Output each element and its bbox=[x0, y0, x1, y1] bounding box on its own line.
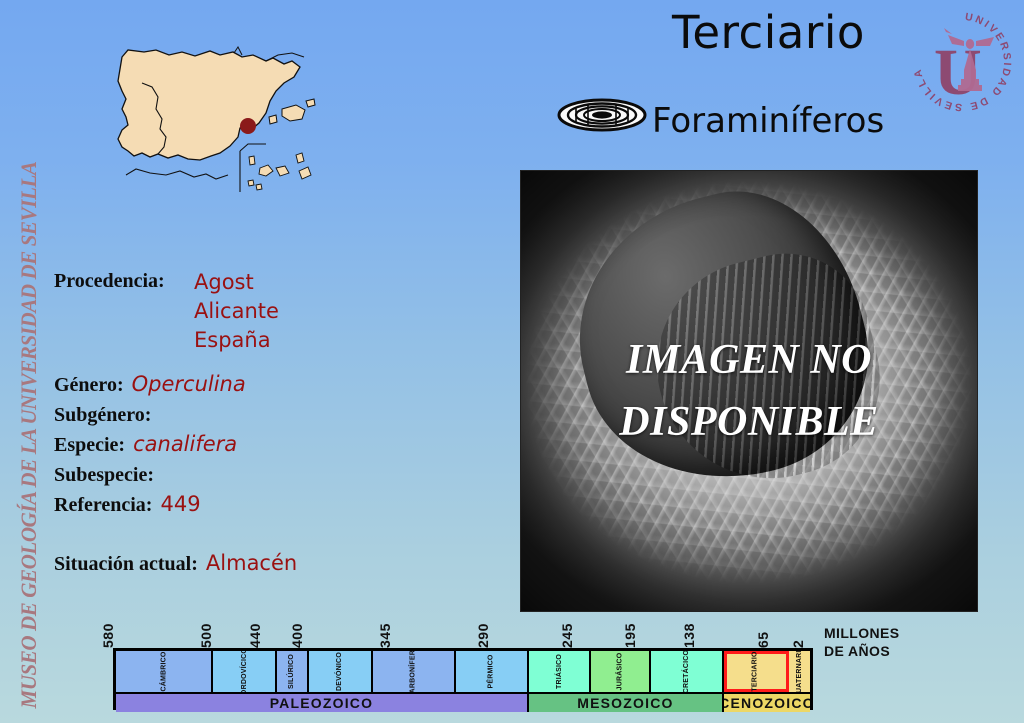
tick-label-65: 65 bbox=[755, 631, 771, 648]
field-referencia: Referencia:449 bbox=[54, 492, 201, 517]
tick-label-138: 138 bbox=[681, 623, 697, 648]
timescale-period-cámbrico: CÁMBRICO bbox=[116, 651, 213, 692]
timescale-eras-row: PALEOZOICOMESOZOICOCENOZOICO bbox=[116, 692, 810, 712]
canary-islands bbox=[248, 153, 311, 190]
period-label: JURÁSICO bbox=[617, 653, 624, 691]
tick-label-195: 195 bbox=[622, 623, 638, 648]
period-label: CÁMBRICO bbox=[160, 651, 167, 691]
referencia-label: Referencia: bbox=[54, 494, 152, 516]
timescale-era-cenozoico: CENOZOICO bbox=[724, 694, 810, 712]
timescale-tick-labels: 580500440400345290245195138652 bbox=[113, 618, 819, 648]
especie-value: canalifera bbox=[125, 432, 237, 456]
field-especie: Especie:canalifera bbox=[54, 432, 237, 457]
timescale-period-jurásico: JURÁSICO bbox=[591, 651, 651, 692]
timescale-period-triásico: TRIÁSICO bbox=[529, 651, 591, 692]
mallorca-island bbox=[282, 105, 305, 121]
foraminifera-icon bbox=[556, 92, 648, 138]
museum-banner-label: MUSEO DE GEOLOGÍA DE LA UNIVERSIDAD DE S… bbox=[15, 162, 42, 715]
subgenero-value bbox=[151, 402, 159, 426]
iberia-landmass bbox=[118, 50, 300, 160]
period-label: TERCIARIO bbox=[752, 651, 759, 691]
field-subgenero: Subgénero: bbox=[54, 402, 159, 427]
procedencia-value-city: Agost bbox=[194, 270, 254, 294]
timescale-periods-row: CÁMBRICOORDOVÍCICOSILÚRICODEVÓNICOCARBON… bbox=[116, 651, 810, 692]
period-label: PÉRMICO bbox=[488, 654, 495, 688]
tick-label-440: 440 bbox=[247, 623, 263, 648]
era-label: MESOZOICO bbox=[577, 695, 673, 711]
museum-banner: MUSEO DE GEOLOGÍA DE LA UNIVERSIDAD DE S… bbox=[9, 0, 49, 715]
units-line-2: DE AÑOS bbox=[824, 643, 900, 661]
genero-value: Operculina bbox=[124, 372, 246, 396]
situacion-value: Almacén bbox=[198, 551, 297, 575]
procedencia-value-province: Alicante bbox=[194, 299, 279, 323]
procedencia-label: Procedencia: bbox=[54, 270, 165, 292]
tick-label-500: 500 bbox=[198, 623, 214, 648]
units-line-1: MILLONES bbox=[824, 625, 900, 643]
field-subespecie: Subespecie: bbox=[54, 462, 162, 487]
era-label: PALEOZOICO bbox=[270, 695, 374, 711]
timescale-units-label: MILLONES DE AÑOS bbox=[824, 625, 900, 660]
timescale-period-silúrico: SILÚRICO bbox=[277, 651, 309, 692]
subespecie-value bbox=[154, 462, 162, 486]
timescale-period-pérmico: PÉRMICO bbox=[456, 651, 529, 692]
timescale-era-mesozoico: MESOZOICO bbox=[529, 694, 724, 712]
ibiza-island bbox=[269, 115, 277, 124]
menorca-island bbox=[306, 99, 315, 107]
overlay-line-1: IMAGEN NO bbox=[521, 329, 977, 391]
procedencia-value-country: España bbox=[194, 328, 271, 352]
timescale-period-carbonífero: CARBONÍFERO bbox=[373, 651, 456, 692]
timescale-period-terciario: TERCIARIO bbox=[724, 651, 789, 692]
timescale-period-cretácico: CRETÁCICO bbox=[651, 651, 724, 692]
field-procedencia: Procedencia: bbox=[54, 270, 165, 293]
period-label: CUATERNARIO bbox=[796, 651, 803, 692]
page-title: Terciario bbox=[672, 6, 865, 59]
slide-root: MUSEO DE GEOLOGÍA DE LA UNIVERSIDAD DE S… bbox=[0, 0, 1024, 723]
page-subtitle: Foraminíferos bbox=[652, 101, 884, 141]
period-label: ORDOVÍCICO bbox=[241, 651, 248, 692]
fossil-photograph[interactable]: IMAGEN NO DISPONIBLE bbox=[521, 171, 977, 611]
tick-label-245: 245 bbox=[559, 623, 575, 648]
map-svg bbox=[70, 25, 440, 250]
especie-label: Especie: bbox=[54, 434, 125, 456]
map-of-spain bbox=[70, 25, 440, 250]
period-label: CRETÁCICO bbox=[683, 651, 690, 692]
timescale-era-paleozoico: PALEOZOICO bbox=[116, 694, 529, 712]
genero-label: Género: bbox=[54, 374, 124, 396]
universidad-de-sevilla-logo: UNIVERSIDAD DE SEVILLA U bbox=[908, 8, 1016, 116]
field-situacion-actual: Situación actual:Almacén bbox=[54, 551, 297, 576]
period-label: CARBONÍFERO bbox=[410, 651, 417, 692]
location-marker-agost[interactable] bbox=[240, 118, 256, 134]
tick-label-290: 290 bbox=[475, 623, 491, 648]
timescale-period-devónico: DEVÓNICO bbox=[309, 651, 373, 692]
subespecie-label: Subespecie: bbox=[54, 464, 154, 486]
era-label: CENOZOICO bbox=[724, 695, 810, 711]
tick-label-2: 2 bbox=[790, 640, 806, 648]
canary-inset-frame bbox=[240, 144, 266, 151]
tick-label-580: 580 bbox=[100, 623, 116, 648]
overlay-line-2: DISPONIBLE bbox=[521, 391, 977, 453]
period-label: TRIÁSICO bbox=[556, 654, 563, 689]
referencia-value: 449 bbox=[152, 492, 200, 516]
timescale-period-ordovícico: ORDOVÍCICO bbox=[213, 651, 277, 692]
period-label: SILÚRICO bbox=[288, 654, 295, 689]
north-africa-coast bbox=[126, 169, 228, 179]
subgenero-label: Subgénero: bbox=[54, 404, 151, 426]
tick-label-345: 345 bbox=[377, 623, 393, 648]
tick-label-400: 400 bbox=[289, 623, 305, 648]
timescale-period-cuaternario: CUATERNARIO bbox=[789, 651, 810, 692]
field-genero: Género:Operculina bbox=[54, 372, 246, 397]
situacion-label: Situación actual: bbox=[54, 553, 198, 575]
period-label: DEVÓNICO bbox=[336, 652, 343, 691]
geologic-timescale: CÁMBRICOORDOVÍCICOSILÚRICODEVÓNICOCARBON… bbox=[113, 648, 813, 710]
image-unavailable-overlay: IMAGEN NO DISPONIBLE bbox=[521, 329, 977, 453]
